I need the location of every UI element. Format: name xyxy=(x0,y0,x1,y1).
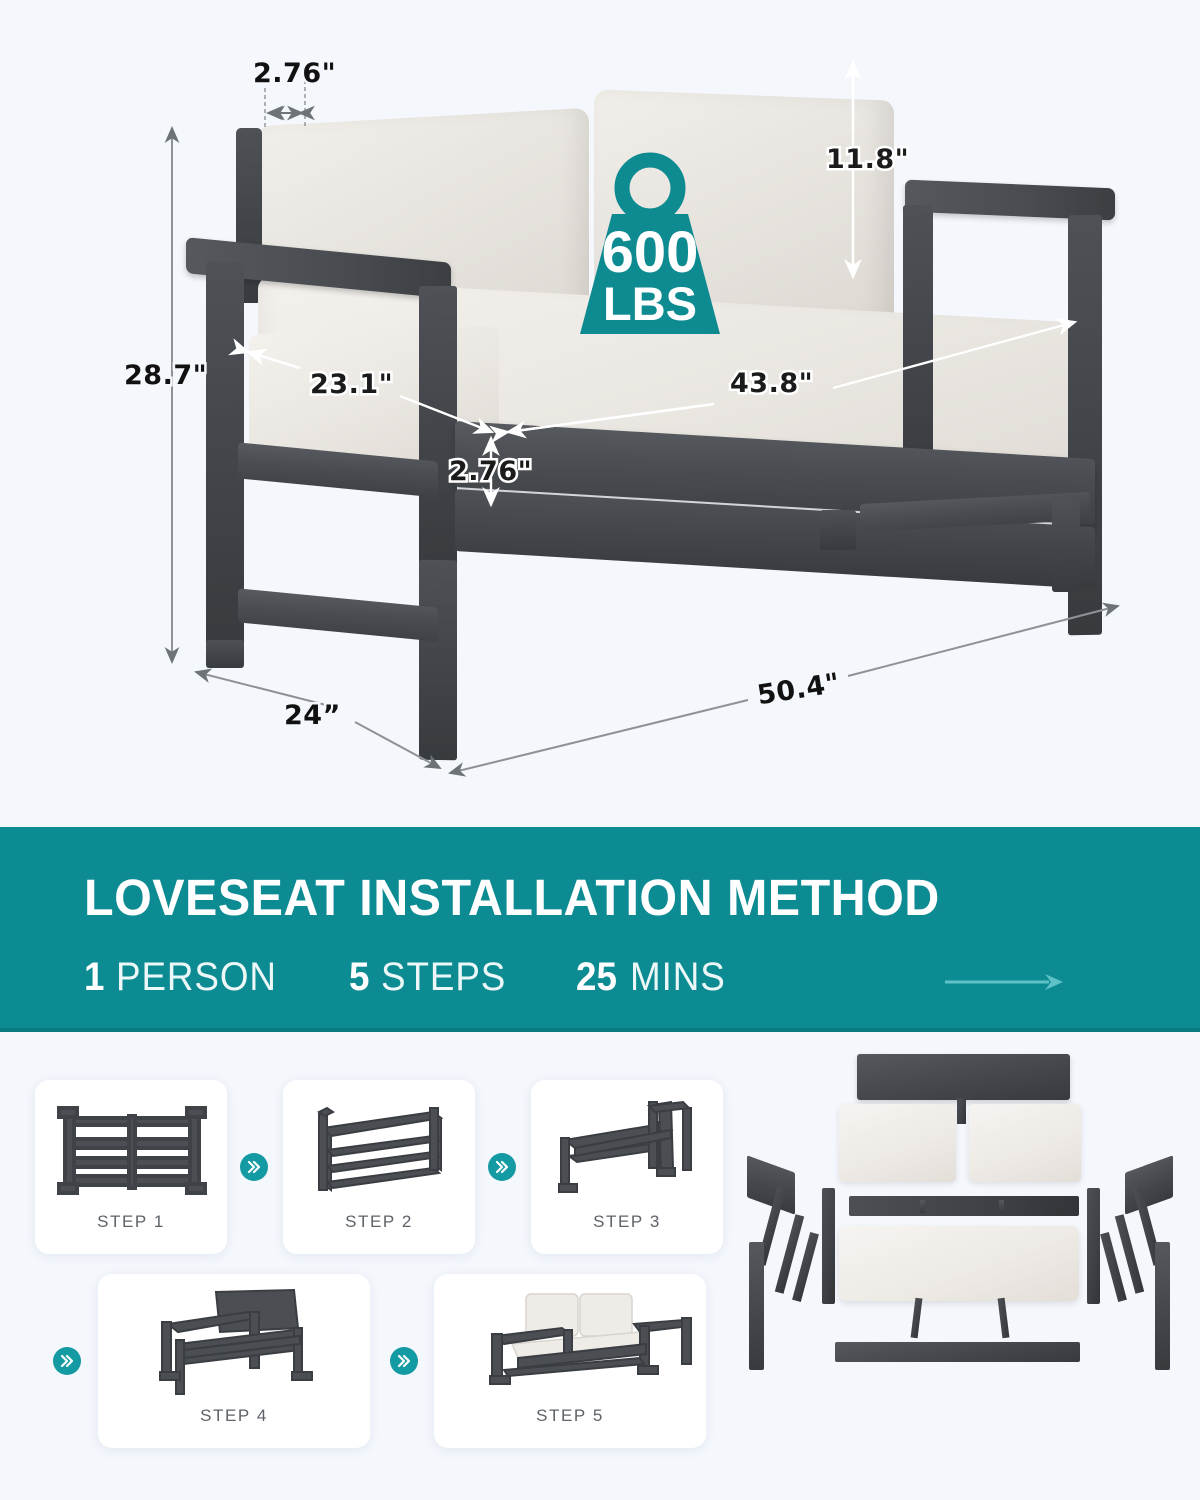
banner-title: LOVESEAT INSTALLATION METHOD xyxy=(84,868,940,927)
step-5-illustration xyxy=(434,1288,706,1406)
center-support-block xyxy=(820,510,856,550)
part-front-rail-tab-right xyxy=(999,1200,1004,1213)
stat-steps: 5 STEPS xyxy=(349,955,517,1000)
step-3-label: STEP 3 xyxy=(531,1212,723,1232)
part-bottom-rail xyxy=(835,1342,1080,1362)
arm-post-left-front xyxy=(419,286,457,576)
step-1-illustration xyxy=(35,1094,227,1212)
step-2-label: STEP 2 xyxy=(283,1212,475,1232)
double-chevron-right-icon xyxy=(488,1153,516,1181)
part-inner-post-left xyxy=(822,1188,835,1304)
part-leg-back-left xyxy=(1155,1242,1170,1370)
part-back-cushion-left xyxy=(839,1104,956,1182)
step-3-illustration xyxy=(531,1094,723,1212)
dimension-label-seat-depth: 23.1" xyxy=(310,369,393,400)
stat-steps-word: STEPS xyxy=(381,955,506,1000)
leg-back-right xyxy=(1052,500,1080,592)
stat-person-word: PERSON xyxy=(116,955,277,1000)
double-chevron-right-icon xyxy=(240,1153,268,1181)
exploded-parts-diagram xyxy=(735,1036,1200,1496)
dimension-label-seat-cushion-thickness: 2.76" xyxy=(449,456,532,487)
installation-banner: LOVESEAT INSTALLATION METHOD 1 PERSON 5 … xyxy=(0,827,1200,1032)
hero-section: 2.76" 28.7" 11.8" 23.1" 43.8" 2.76" 24” … xyxy=(0,0,1200,827)
infographic-page: 2.76" 28.7" 11.8" 23.1" 43.8" 2.76" 24” … xyxy=(0,0,1200,1500)
dimension-label-seat-width: 43.8" xyxy=(730,368,813,399)
part-back-panel-center-tab xyxy=(957,1098,966,1124)
double-chevron-right-icon xyxy=(390,1347,418,1375)
stat-mins: 25 MINS xyxy=(576,955,735,1000)
part-front-rail-tab-left xyxy=(920,1200,925,1213)
step-card-2[interactable]: STEP 2 xyxy=(283,1080,475,1254)
stat-steps-number: 5 xyxy=(349,955,369,1000)
part-inner-post-right xyxy=(1087,1188,1100,1304)
part-seat-cushion xyxy=(839,1226,1079,1301)
leg-back-left xyxy=(206,640,244,668)
step-card-4[interactable]: STEP 4 xyxy=(98,1274,370,1448)
step-card-5[interactable]: STEP 5 xyxy=(434,1274,706,1448)
stat-mins-number: 25 xyxy=(576,955,617,1000)
loveseat-product-illustration xyxy=(0,0,1200,827)
double-chevron-right-icon xyxy=(53,1347,81,1375)
stat-mins-word: MINS xyxy=(630,955,726,1000)
step-2-illustration xyxy=(283,1094,475,1212)
banner-stats: 1 PERSON 5 STEPS 25 MINS xyxy=(84,955,734,1000)
dimension-label-overall-depth: 24” xyxy=(284,700,341,731)
part-back-panel xyxy=(857,1054,1070,1100)
part-back-cushion-right xyxy=(969,1104,1081,1182)
step-4-illustration xyxy=(98,1288,370,1406)
weight-value-text: 600 xyxy=(602,220,699,285)
part-armrest-right xyxy=(1125,1155,1173,1214)
step-card-1[interactable]: STEP 1 xyxy=(35,1080,227,1254)
dimension-label-back-cushion-thickness-top: 2.76" xyxy=(253,58,336,89)
part-seat-support-right xyxy=(998,1298,1010,1339)
installation-steps: STEP 1 xyxy=(0,1036,735,1496)
leg-front-left xyxy=(419,560,457,761)
part-leg-front-left xyxy=(749,1242,764,1370)
step-card-3[interactable]: STEP 3 xyxy=(531,1080,723,1254)
step-5-label: STEP 5 xyxy=(434,1406,706,1426)
side-stretcher-left xyxy=(238,588,438,641)
stat-person-number: 1 xyxy=(84,955,104,1000)
dimension-label-overall-height: 28.7" xyxy=(124,360,207,391)
weight-capacity-badge: 600 LBS xyxy=(565,148,735,343)
weight-unit-text: LBS xyxy=(603,277,697,330)
step-4-label: STEP 4 xyxy=(98,1406,370,1426)
part-seat-support-left xyxy=(911,1298,923,1339)
part-front-rail xyxy=(849,1196,1079,1216)
dimension-label-back-cushion-height: 11.8" xyxy=(826,144,909,175)
arrow-right-icon xyxy=(945,969,1065,995)
stat-person: 1 PERSON xyxy=(84,955,291,1000)
step-1-label: STEP 1 xyxy=(35,1212,227,1232)
